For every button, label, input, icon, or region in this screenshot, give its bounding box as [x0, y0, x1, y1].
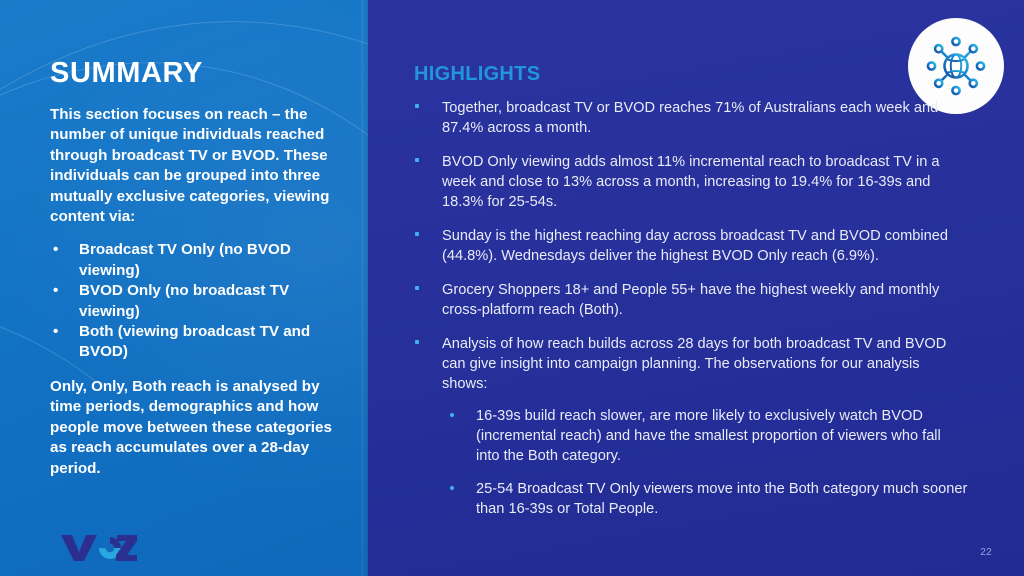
bullet-icon: •	[53, 322, 58, 342]
list-item: Analysis of how reach builds across 28 d…	[412, 334, 968, 519]
list-item-label: Together, broadcast TV or BVOD reaches 7…	[442, 100, 938, 136]
summary-body: This section focuses on reach – the numb…	[50, 105, 348, 479]
category-list: • Broadcast TV Only (no BVOD viewing) • …	[50, 240, 348, 362]
bullet-icon	[450, 486, 454, 490]
summary-panel: SUMMARY This section focuses on reach – …	[0, 0, 368, 576]
list-item-label: BVOD Only (no broadcast TV viewing)	[79, 282, 289, 319]
highlights-list: Together, broadcast TV or BVOD reaches 7…	[412, 98, 968, 533]
list-item: • BVOD Only (no broadcast TV viewing)	[50, 281, 348, 322]
list-item-label: Grocery Shoppers 18+ and People 55+ have…	[442, 282, 939, 318]
list-item-label: Both (viewing broadcast TV and BVOD)	[79, 323, 310, 360]
list-item: Grocery Shoppers 18+ and People 55+ have…	[412, 280, 968, 320]
voz-logo	[59, 530, 137, 562]
list-item-label: Broadcast TV Only (no BVOD viewing)	[79, 241, 291, 278]
list-item-label: BVOD Only viewing adds almost 11% increm…	[442, 154, 940, 210]
list-item: Together, broadcast TV or BVOD reaches 7…	[412, 98, 968, 138]
bullet-icon	[415, 158, 419, 162]
page-title: SUMMARY	[50, 59, 203, 88]
bullet-icon	[450, 413, 454, 417]
summary-closing-paragraph: Only, Only, Both reach is analysed by ti…	[50, 377, 348, 479]
page-number: 22	[980, 547, 992, 558]
bullet-icon	[415, 104, 419, 108]
list-item: 25-54 Broadcast TV Only viewers move int…	[442, 479, 968, 519]
panel-edge-strip	[361, 0, 368, 576]
list-item: • Broadcast TV Only (no BVOD viewing)	[50, 240, 348, 281]
highlights-heading: HIGHLIGHTS	[414, 64, 540, 84]
list-item-label: 16-39s build reach slower, are more like…	[476, 408, 941, 464]
bullet-icon: •	[53, 281, 58, 301]
list-item: • Both (viewing broadcast TV and BVOD)	[50, 322, 348, 363]
list-item: Sunday is the highest reaching day acros…	[412, 226, 968, 266]
slide: SUMMARY This section focuses on reach – …	[0, 0, 1024, 576]
bullet-icon: •	[53, 240, 58, 260]
bullet-icon	[415, 232, 419, 236]
highlights-sub-list: 16-39s build reach slower, are more like…	[442, 406, 968, 519]
bullet-icon	[415, 340, 419, 344]
list-item-label: 25-54 Broadcast TV Only viewers move int…	[476, 481, 967, 517]
bullet-icon	[415, 286, 419, 290]
summary-intro-paragraph: This section focuses on reach – the numb…	[50, 105, 348, 227]
list-item: BVOD Only viewing adds almost 11% increm…	[412, 152, 968, 212]
list-item-label: Analysis of how reach builds across 28 d…	[442, 336, 946, 392]
highlights-panel: HIGHLIGHTS Together, broadcast TV or BVO…	[368, 0, 1024, 576]
list-item-label: Sunday is the highest reaching day acros…	[442, 228, 948, 264]
list-item: 16-39s build reach slower, are more like…	[442, 406, 968, 466]
